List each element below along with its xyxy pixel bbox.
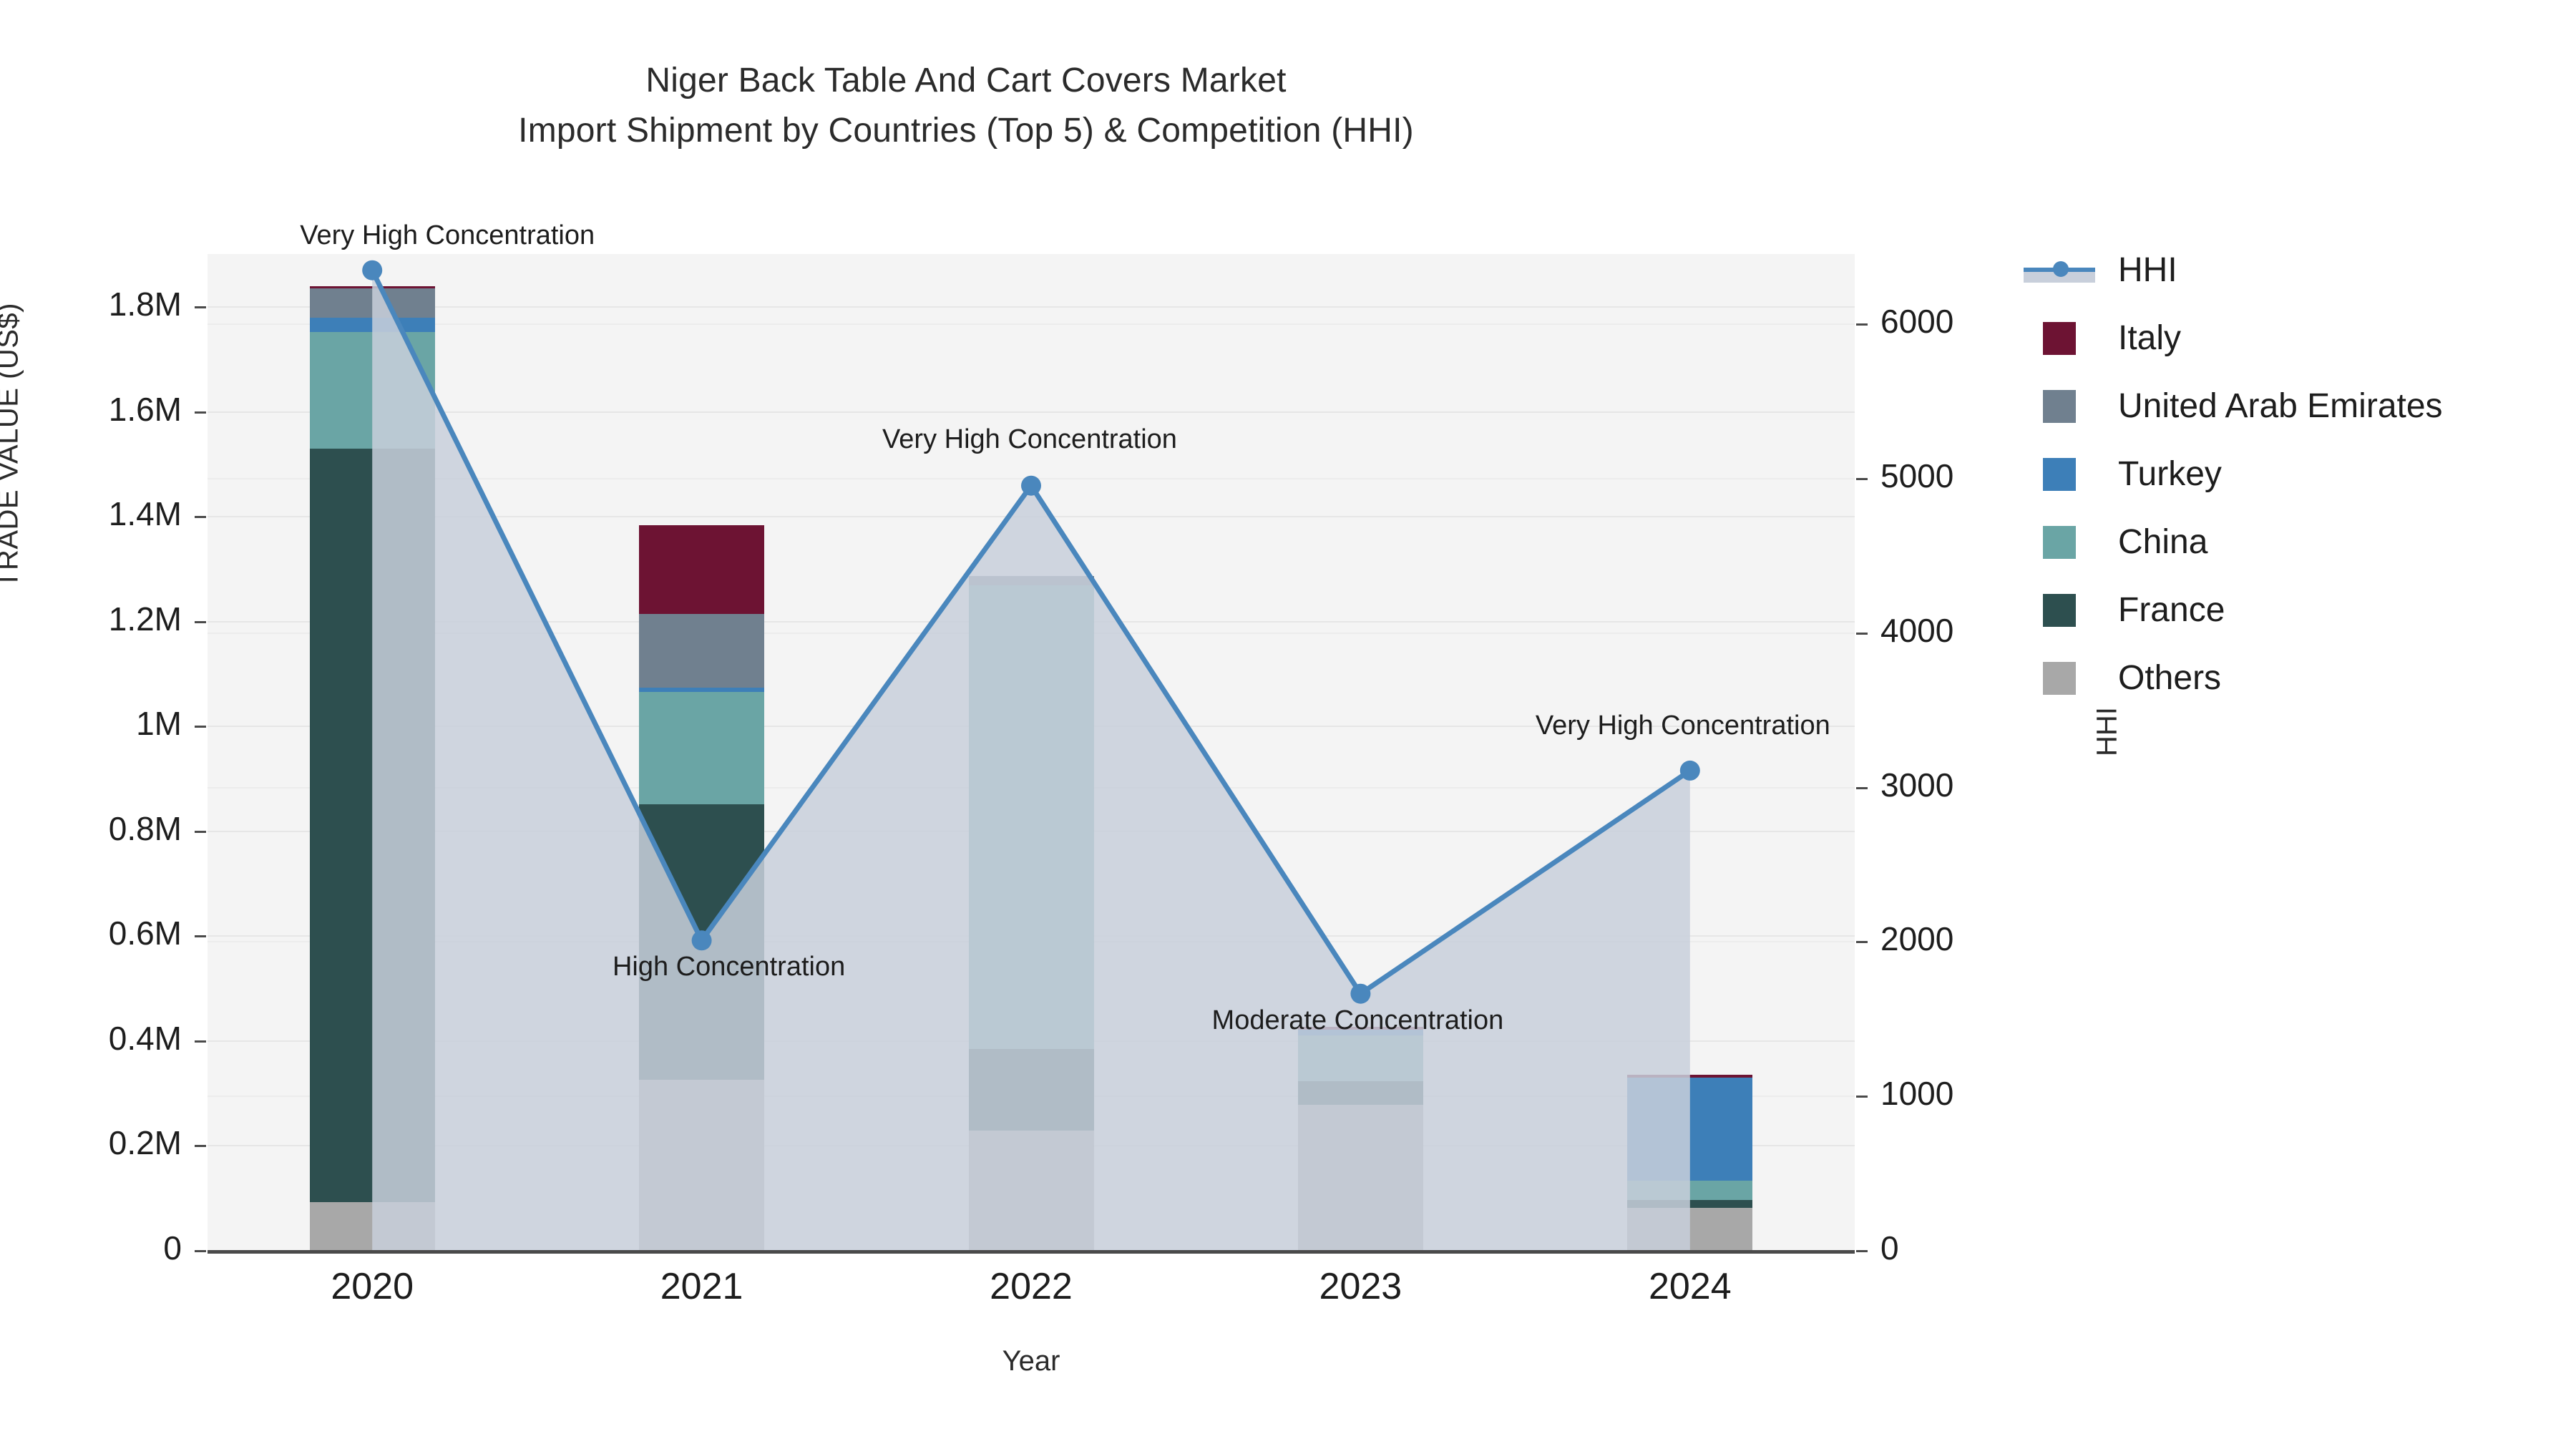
bar-segment[interactable] (310, 449, 435, 1202)
legend-item-others[interactable]: Others (2024, 644, 2567, 712)
y-tick-label-right: 1000 (1880, 1074, 1953, 1113)
y-tick-mark-right (1856, 478, 1868, 480)
y-tick-mark-right (1856, 323, 1868, 326)
concentration-annotation: Very High Concentration (300, 220, 595, 251)
bar-segment[interactable] (310, 288, 435, 317)
legend-item-turkey[interactable]: Turkey (2024, 440, 2567, 508)
bar-segment[interactable] (1627, 1200, 1752, 1209)
y-tick-label-right: 2000 (1880, 919, 1953, 958)
hhi-marker[interactable] (1680, 761, 1700, 781)
legend-item-hhi[interactable]: HHI (2024, 236, 2567, 304)
y-tick-label-left: 0.4M (0, 1019, 182, 1058)
y-tick-mark-left (195, 726, 206, 728)
y-tick-mark-right (1856, 633, 1868, 635)
bar-stack[interactable] (1627, 1075, 1752, 1250)
bar-segment[interactable] (639, 688, 764, 692)
y-tick-mark-left (195, 621, 206, 623)
bar-segment[interactable] (1298, 1081, 1423, 1105)
bar-segment[interactable] (310, 318, 435, 333)
chart-title-block: Niger Back Table And Cart Covers Market … (0, 56, 1932, 156)
bar-segment[interactable] (969, 576, 1094, 585)
legend-item-france[interactable]: France (2024, 576, 2567, 644)
legend-color-swatch (2043, 594, 2076, 627)
bar-segment[interactable] (1627, 1075, 1752, 1078)
legend-item-label: HHI (2118, 253, 2177, 288)
concentration-annotation: Very High Concentration (1536, 711, 1830, 741)
y-tick-label-left: 1M (0, 704, 182, 743)
hhi-marker[interactable] (1350, 984, 1370, 1004)
y-tick-label-right: 0 (1880, 1229, 1899, 1267)
gridline-secondary (208, 478, 1855, 479)
x-tick-label: 2022 (924, 1265, 1138, 1308)
y-tick-label-left: 1.8M (0, 285, 182, 323)
legend-color-swatch (2043, 322, 2076, 355)
bar-segment[interactable] (639, 614, 764, 688)
bar-segment[interactable] (639, 525, 764, 615)
y-tick-mark-left (195, 831, 206, 833)
y-tick-mark-left (195, 935, 206, 937)
concentration-annotation: Moderate Concentration (1212, 1005, 1504, 1036)
chart-title: Niger Back Table And Cart Covers Market (0, 56, 1932, 106)
bar-segment[interactable] (969, 1131, 1094, 1250)
hhi-marker[interactable] (362, 260, 382, 280)
x-tick-label: 2024 (1583, 1265, 1797, 1308)
bar-segment[interactable] (969, 585, 1094, 1049)
legend-color-swatch (2043, 390, 2076, 423)
gridline (208, 516, 1855, 517)
legend-item-label: Others (2118, 661, 2221, 696)
bar-segment[interactable] (1627, 1181, 1752, 1200)
gridline (208, 411, 1855, 413)
gridline-secondary (208, 323, 1855, 325)
y-tick-mark-right (1856, 1250, 1868, 1252)
bar-segment[interactable] (639, 804, 764, 1080)
legend-marker-dot (2053, 261, 2069, 277)
legend-color-swatch (2043, 662, 2076, 695)
gridline (208, 306, 1855, 308)
y-tick-mark-right (1856, 941, 1868, 943)
legend-item-united-arab-emirates[interactable]: United Arab Emirates (2024, 372, 2567, 440)
bar-stack[interactable] (639, 525, 764, 1250)
legend-color-swatch (2043, 526, 2076, 559)
bar-segment[interactable] (1298, 1035, 1423, 1081)
bar-segment[interactable] (1298, 1105, 1423, 1250)
bar-segment[interactable] (310, 286, 435, 289)
concentration-annotation: High Concentration (613, 952, 845, 982)
y-tick-mark-right (1856, 787, 1868, 789)
chart-subtitle: Import Shipment by Countries (Top 5) & C… (0, 106, 1932, 156)
legend-item-label: Italy (2118, 321, 2181, 356)
bar-segment[interactable] (310, 1202, 435, 1250)
y-tick-label-left: 0.8M (0, 809, 182, 848)
plot-area: Very High ConcentrationHigh Concentratio… (208, 254, 1855, 1250)
bar-segment[interactable] (969, 1049, 1094, 1131)
bar-segment[interactable] (310, 332, 435, 449)
bar-segment[interactable] (1627, 1208, 1752, 1250)
legend-color-swatch (2043, 458, 2076, 491)
legend-item-italy[interactable]: Italy (2024, 304, 2567, 372)
x-tick-label: 2021 (595, 1265, 809, 1308)
y-tick-mark-left (195, 411, 206, 414)
bar-stack[interactable] (1298, 1027, 1423, 1250)
concentration-annotation: Very High Concentration (882, 424, 1177, 455)
y-tick-label-left: 1.6M (0, 390, 182, 429)
y-tick-label-right: 5000 (1880, 457, 1953, 495)
y-tick-mark-left (195, 1145, 206, 1147)
legend-item-label: France (2118, 593, 2225, 628)
y-tick-mark-left (195, 1250, 206, 1252)
legend-line-swatch (2024, 254, 2095, 287)
x-tick-label: 2020 (265, 1265, 479, 1308)
x-axis-rule (208, 1250, 1855, 1254)
y-tick-label-left: 0 (0, 1229, 182, 1267)
x-tick-label: 2023 (1253, 1265, 1468, 1308)
chart-root: Niger Back Table And Cart Covers Market … (0, 0, 2576, 1449)
bar-segment[interactable] (639, 692, 764, 805)
bar-segment[interactable] (639, 1080, 764, 1250)
y-tick-label-right: 4000 (1880, 611, 1953, 650)
y-tick-label-right: 3000 (1880, 766, 1953, 804)
y-tick-label-left: 0.6M (0, 914, 182, 952)
y-tick-mark-right (1856, 1096, 1868, 1098)
legend-item-label: United Arab Emirates (2118, 389, 2443, 424)
y-tick-label-left: 0.2M (0, 1123, 182, 1162)
y-tick-mark-left (195, 1040, 206, 1043)
y-tick-label-left: 1.2M (0, 600, 182, 638)
legend-item-china[interactable]: China (2024, 508, 2567, 576)
x-axis-label: Year (208, 1345, 1855, 1377)
legend: HHIItalyUnited Arab EmiratesTurkeyChinaF… (2024, 236, 2567, 712)
y-tick-mark-left (195, 516, 206, 518)
legend-item-label: China (2118, 525, 2207, 560)
bar-stack[interactable] (969, 576, 1094, 1250)
bar-segment[interactable] (1627, 1078, 1752, 1181)
y-tick-label-right: 6000 (1880, 302, 1953, 341)
bar-stack[interactable] (310, 286, 435, 1250)
legend-item-label: Turkey (2118, 457, 2222, 492)
y-tick-label-left: 1.4M (0, 494, 182, 533)
y-tick-mark-left (195, 306, 206, 308)
